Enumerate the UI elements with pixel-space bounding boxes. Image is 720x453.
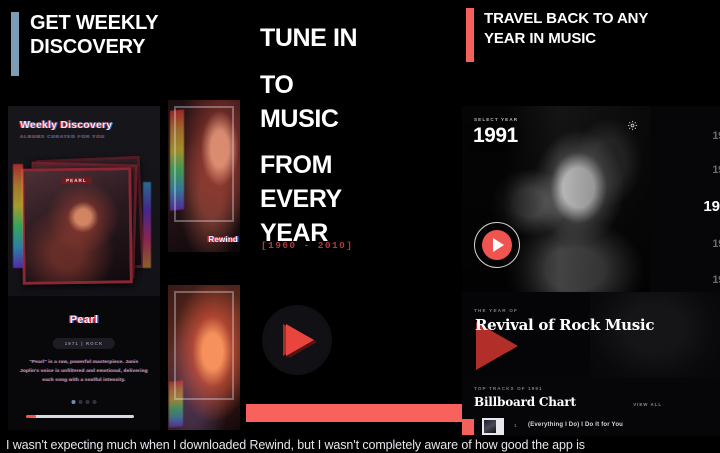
phone-lower-screen: Pearl 1971 | ROCK "Pearl" is a raw, powe… <box>8 296 160 430</box>
column-one-header: GET WEEKLY DISCOVERY <box>0 0 238 96</box>
column-three-heading: TRAVEL BACK TO ANY YEAR IN MUSIC <box>484 9 684 49</box>
weekly-discovery-title: Weekly Discovery <box>20 119 112 131</box>
dot-active[interactable] <box>72 400 76 404</box>
heading-gap <box>260 136 460 149</box>
red-divider-bar <box>246 404 462 422</box>
heading-gap <box>260 56 460 69</box>
select-year-label: SELECT YEAR <box>474 117 518 122</box>
rewind-label: Rewind <box>208 235 238 244</box>
chromatic-glitch-left <box>13 164 23 268</box>
year-item-1991-selected[interactable]: 1991 <box>703 198 720 215</box>
track-row[interactable]: 1 (Everything I Do) I Do It for You <box>462 418 720 436</box>
album-cover-label: PEARL <box>61 177 92 184</box>
year-list[interactable]: 1989 1990 1991 1992 1993 <box>650 122 720 308</box>
year-item-1989[interactable]: 1989 <box>712 130 720 142</box>
testimonial-quote: I wasn't expecting much when I downloade… <box>6 438 718 452</box>
heading-line-5: EVERY <box>260 183 460 217</box>
year-range-label: [1960 - 2010] <box>261 240 353 251</box>
album-card-front[interactable]: PEARL <box>21 167 133 285</box>
track-rank: 1 <box>514 423 516 428</box>
page-root: GET WEEKLY DISCOVERY Weekly Discovery AL… <box>0 0 720 453</box>
year-item-1990[interactable]: 1990 <box>712 164 720 176</box>
gear-icon[interactable] <box>627 120 638 131</box>
chart-name: Billboard Chart <box>474 395 576 409</box>
column-one-heading: GET WEEKLY DISCOVERY <box>30 12 230 59</box>
play-glyph <box>482 230 512 260</box>
heading-line-3: MUSIC <box>260 103 460 137</box>
chromatic-glitch-right <box>143 182 151 268</box>
accent-bar-blue <box>11 12 19 76</box>
heading-line-4: FROM <box>260 149 460 183</box>
pagination-dots[interactable] <box>72 400 97 404</box>
album-art <box>24 170 130 281</box>
selected-year-display: 1991 <box>473 124 518 148</box>
photo-card-one[interactable]: Rewind <box>168 100 240 252</box>
photo-frame <box>174 106 234 222</box>
album-badge: 1971 | ROCK <box>53 338 115 349</box>
weekly-discovery-subtitle: ALBUMS CURATED FOR YOU <box>20 134 105 139</box>
year-item-1993[interactable]: 1993 <box>712 274 720 286</box>
year-selector-app-mockup: SELECT YEAR 1991 1989 1990 1991 1992 199… <box>462 106 720 436</box>
album-title: Pearl <box>8 314 160 326</box>
heading-line-1: TUNE IN <box>260 22 460 56</box>
column-three: TRAVEL BACK TO ANY YEAR IN MUSIC SELECT … <box>462 0 720 453</box>
heading-line-2: TO <box>260 69 460 103</box>
artist-hero-photo: SELECT YEAR 1991 <box>462 106 650 292</box>
year-of-title: Revival of Rock Music <box>475 316 665 335</box>
photo-frame <box>174 291 234 400</box>
accent-bar-red <box>466 8 474 62</box>
billboard-chart-block: TOP TRACKS OF 1991 Billboard Chart VIEW … <box>462 378 720 436</box>
dot[interactable] <box>93 400 97 404</box>
phone-upper-screen: Weekly Discovery ALBUMS CURATED FOR YOU … <box>8 106 160 296</box>
dot[interactable] <box>79 400 83 404</box>
view-all-link[interactable]: VIEW ALL <box>633 402 662 407</box>
play-triangle-icon[interactable] <box>262 305 332 375</box>
weekly-discovery-phone-mockup: Weekly Discovery ALBUMS CURATED FOR YOU … <box>8 106 160 430</box>
album-card-stack[interactable]: PEARL <box>22 158 144 286</box>
track-accent <box>462 419 474 435</box>
album-blurb: "Pearl" is a raw, powerful masterpiece. … <box>20 358 148 385</box>
top-tracks-label: TOP TRACKS OF 1991 <box>474 386 543 391</box>
play-button-icon[interactable] <box>474 222 520 268</box>
year-item-1992[interactable]: 1992 <box>712 238 720 250</box>
track-title: (Everything I Do) I Do It for You <box>528 422 623 428</box>
year-of-label: THE YEAR OF <box>474 308 518 313</box>
column-two: TUNE IN TO MUSIC FROM EVERY YEAR [1960 -… <box>246 0 462 453</box>
year-of-block: THE YEAR OF Revival of Rock Music <box>462 292 720 378</box>
photo-card-column: Rewind <box>168 100 240 430</box>
photo-card-two[interactable] <box>168 285 240 430</box>
dot[interactable] <box>86 400 90 404</box>
column-two-heading: TUNE IN TO MUSIC FROM EVERY YEAR <box>260 22 460 251</box>
track-artwork <box>482 418 504 435</box>
home-indicator <box>34 415 134 418</box>
